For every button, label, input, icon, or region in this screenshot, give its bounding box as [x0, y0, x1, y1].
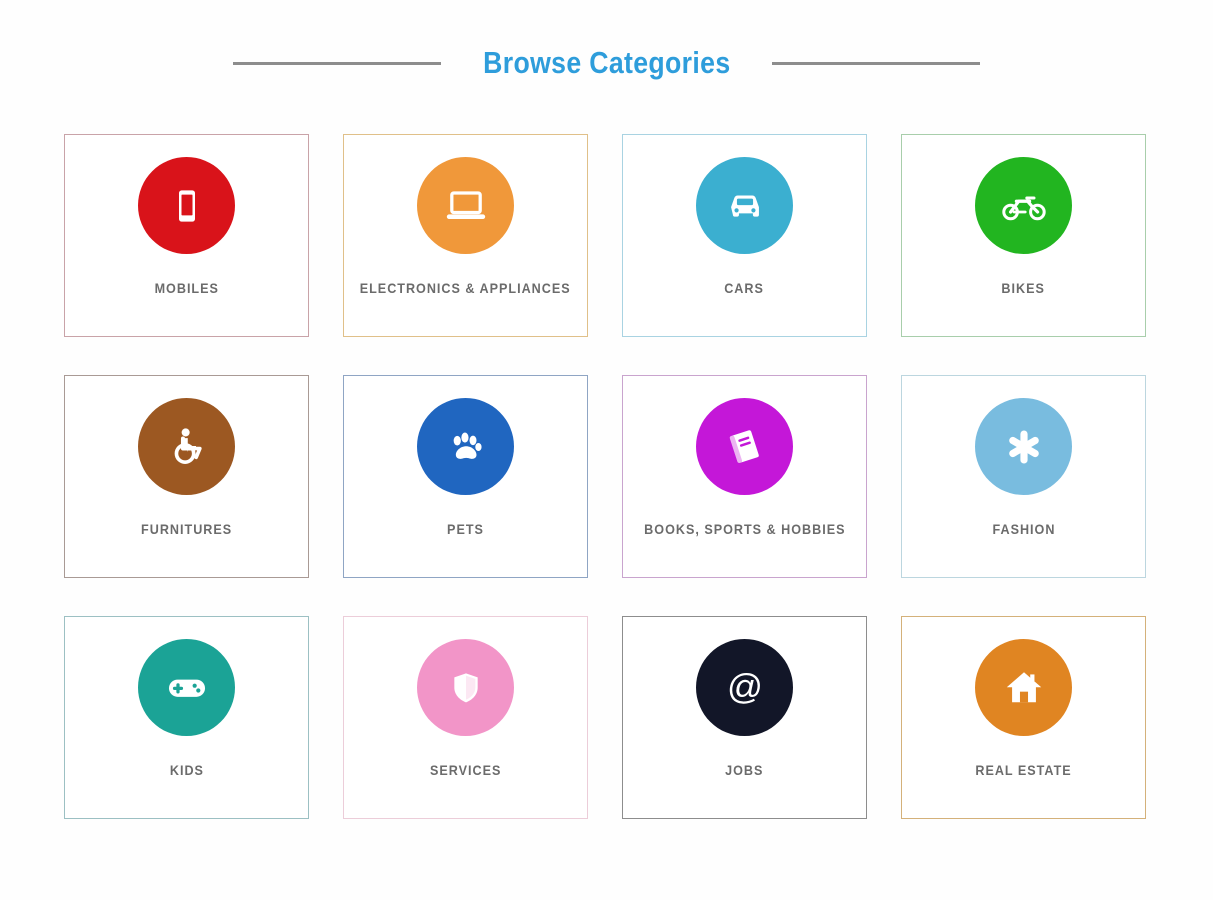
asterisk-icon[interactable] [975, 398, 1072, 495]
category-card[interactable]: REAL ESTATE [901, 616, 1146, 819]
category-card[interactable]: FURNITURES [64, 375, 309, 578]
heading-rule-left [233, 62, 441, 65]
paw-print-icon[interactable] [417, 398, 514, 495]
category-label: BOOKS, SPORTS & HOBBIES [644, 521, 845, 537]
category-label: BIKES [1002, 280, 1045, 296]
category-grid: MOBILESELECTRONICS & APPLIANCESCARSBIKES… [64, 134, 1149, 819]
category-card[interactable]: FASHION [901, 375, 1146, 578]
motorcycle-icon[interactable] [975, 157, 1072, 254]
at-sign-icon[interactable]: @ [696, 639, 793, 736]
category-label: PETS [447, 521, 484, 537]
mobile-phone-icon[interactable] [138, 157, 235, 254]
svg-text:@: @ [727, 666, 763, 706]
category-label: FASHION [992, 521, 1055, 537]
category-label: KIDS [169, 762, 203, 778]
house-icon[interactable] [975, 639, 1072, 736]
gamepad-icon[interactable] [138, 639, 235, 736]
category-label: ELECTRONICS & APPLIANCES [360, 280, 571, 296]
browse-categories-page: Browse Categories MOBILESELECTRONICS & A… [0, 0, 1213, 900]
laptop-icon[interactable] [417, 157, 514, 254]
heading-rule-right [772, 62, 980, 65]
category-label: CARS [725, 280, 765, 296]
category-label: JOBS [725, 762, 763, 778]
wheelchair-icon[interactable] [138, 398, 235, 495]
category-card[interactable]: @JOBS [622, 616, 867, 819]
category-label: FURNITURES [141, 521, 232, 537]
category-label: MOBILES [154, 280, 218, 296]
book-icon[interactable] [696, 398, 793, 495]
category-card[interactable]: CARS [622, 134, 867, 337]
car-icon[interactable] [696, 157, 793, 254]
category-card[interactable]: KIDS [64, 616, 309, 819]
category-card[interactable]: ELECTRONICS & APPLIANCES [343, 134, 588, 337]
category-label: SERVICES [430, 762, 501, 778]
category-card[interactable]: BOOKS, SPORTS & HOBBIES [622, 375, 867, 578]
category-card[interactable]: MOBILES [64, 134, 309, 337]
page-title: Browse Categories [483, 45, 730, 81]
page-heading: Browse Categories [0, 40, 1213, 86]
shield-icon[interactable] [417, 639, 514, 736]
category-card[interactable]: SERVICES [343, 616, 588, 819]
category-label: REAL ESTATE [975, 762, 1071, 778]
category-card[interactable]: BIKES [901, 134, 1146, 337]
category-card[interactable]: PETS [343, 375, 588, 578]
